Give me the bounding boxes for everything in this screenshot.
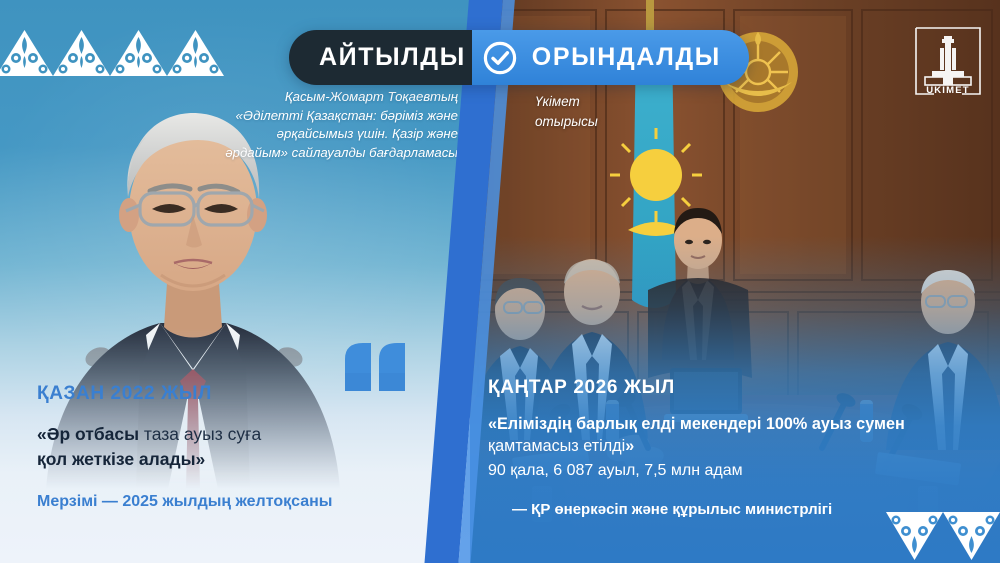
right-caption: Үкімет отырысы (535, 92, 598, 131)
left-term: Мерзімі — 2025 жылдың желтоқсаны (37, 493, 457, 511)
right-quote-normal-1: қамтамасыз етілді (488, 437, 625, 455)
check-circle-icon (482, 40, 518, 76)
right-source: — ҚР өнеркәсіп және құрылыс министрлігі (488, 501, 968, 518)
left-caption: Қасым-Жомарт Тоқаевтың «Әділетті Қазақст… (218, 88, 458, 163)
infographic-card: Қасым-Жомарт Тоқаевтың «Әділетті Қазақст… (0, 0, 1000, 563)
ukimet-logo-text: UKIMET (926, 85, 970, 96)
right-text-block: ҚАҢТАР 2026 ЖЫЛ «Еліміздің барлық елді м… (488, 377, 968, 518)
badge-said[interactable]: АЙТЫЛДЫ (289, 30, 492, 85)
right-stats: 90 қала, 6 087 ауыл, 7,5 млн адам (488, 460, 968, 482)
left-quote-bold-2: қол жеткізе алады» (37, 449, 205, 469)
badge-done-label: ОРЫНДАЛДЫ (532, 43, 721, 72)
left-heading: ҚАЗАН 2022 ЖЫЛ (37, 383, 457, 405)
right-quote-bold-2: » (625, 437, 634, 455)
right-caption-line2: отырысы (535, 114, 598, 129)
badge-said-label: АЙТЫЛДЫ (319, 43, 466, 72)
left-quote-normal-1: таза ауыз суға (139, 424, 261, 444)
right-quote-bold-1: «Еліміздің барлық елді мекендері 100% ау… (488, 415, 905, 433)
kazakh-ornament-icon (0, 26, 224, 78)
left-text-block: ҚАЗАН 2022 ЖЫЛ «Әр отбасы таза ауыз суға… (37, 383, 457, 511)
left-quote: «Әр отбасы таза ауыз суға қол жеткізе ал… (37, 422, 457, 472)
right-heading: ҚАҢТАР 2026 ЖЫЛ (488, 377, 968, 399)
right-quote: «Еліміздің барлық елді мекендері 100% ау… (488, 413, 968, 457)
badge-done[interactable]: ОРЫНДАЛДЫ (472, 30, 749, 85)
right-caption-line1: Үкімет (535, 94, 580, 109)
status-badge: АЙТЫЛДЫ ОРЫНДАЛДЫ (289, 30, 749, 85)
left-quote-bold-1: «Әр отбасы (37, 424, 139, 444)
ukimet-logo[interactable]: UKIMET (910, 22, 986, 106)
